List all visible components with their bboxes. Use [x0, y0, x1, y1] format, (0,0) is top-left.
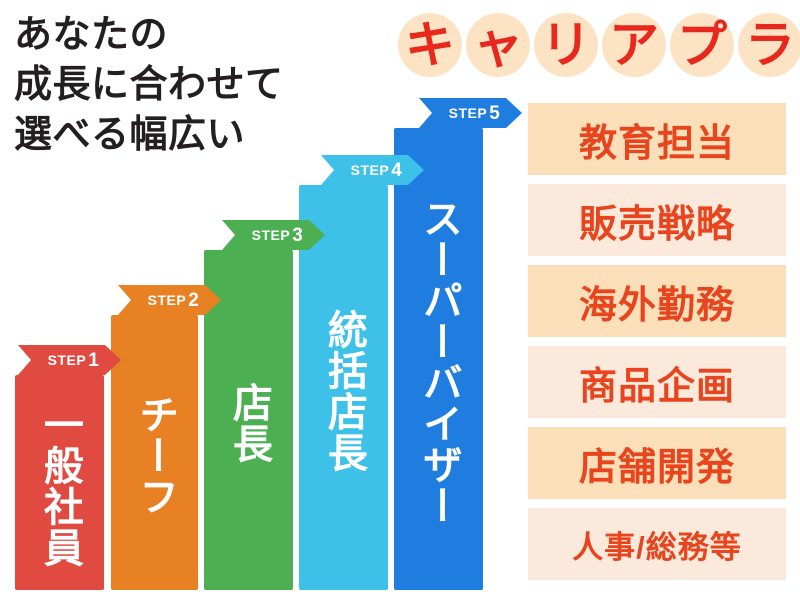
career-option-list: 教育担当 販売戦略 海外勤務 商品企画 店舗開発 人事/総務等: [528, 103, 786, 589]
step-badge-number: 5: [489, 104, 500, 123]
career-option-item: 商品企画: [528, 346, 786, 418]
career-option-item: 海外勤務: [528, 265, 786, 337]
step-badge-4: STEP4: [321, 155, 424, 185]
step-badge-1: STEP1: [18, 345, 121, 375]
step-badge-2: STEP2: [118, 285, 221, 315]
title-char: キ: [394, 9, 466, 81]
headline-line-2: 成長に合わせて: [14, 60, 404, 110]
step-bar-label-3: 店長: [204, 268, 293, 578]
step-badge-label: STEP: [148, 292, 187, 308]
step-bar-label-4: 統括店長: [299, 203, 388, 578]
title-badge: キ ャ リ ア プ ラ ン: [394, 6, 800, 84]
career-plan-infographic: あなたの 成長に合わせて 選べる幅広い キ ャ リ ア プ ラ ン STEP1 …: [0, 0, 800, 600]
title-char: ャ: [462, 9, 534, 81]
title-char: ラ: [734, 9, 800, 81]
step-badge-number: 1: [88, 351, 99, 370]
headline: あなたの 成長に合わせて 選べる幅広い: [14, 10, 404, 160]
step-badge-label: STEP: [449, 105, 488, 121]
career-option-item: 販売戦略: [528, 184, 786, 256]
title-char: プ: [666, 9, 738, 81]
step-bar-label-1: 一般社員: [15, 393, 104, 578]
step-badge-label: STEP: [252, 227, 291, 243]
step-badge-number: 2: [188, 291, 199, 310]
step-badge-number: 4: [391, 161, 402, 180]
step-badge-5: STEP5: [419, 98, 522, 128]
step-bar-1: 一般社員: [15, 375, 104, 590]
career-option-item: 人事/総務等: [528, 508, 786, 580]
step-bar-label-2: チーフ: [111, 333, 198, 578]
step-badge-label: STEP: [351, 162, 390, 178]
step-bar-label-5: スーパーバイザー: [394, 146, 483, 578]
step-bar-2: チーフ: [111, 315, 198, 590]
career-option-item: 店舗開発: [528, 427, 786, 499]
headline-line-1: あなたの: [14, 10, 404, 60]
step-badge-3: STEP3: [222, 220, 325, 250]
step-badge-label: STEP: [48, 352, 87, 368]
title-char: ア: [598, 9, 670, 81]
step-bar-5: スーパーバイザー: [394, 128, 483, 590]
step-badge-number: 3: [292, 226, 303, 245]
career-option-item: 教育担当: [528, 103, 786, 175]
headline-line-3: 選べる幅広い: [14, 110, 404, 160]
title-char: リ: [530, 9, 602, 81]
